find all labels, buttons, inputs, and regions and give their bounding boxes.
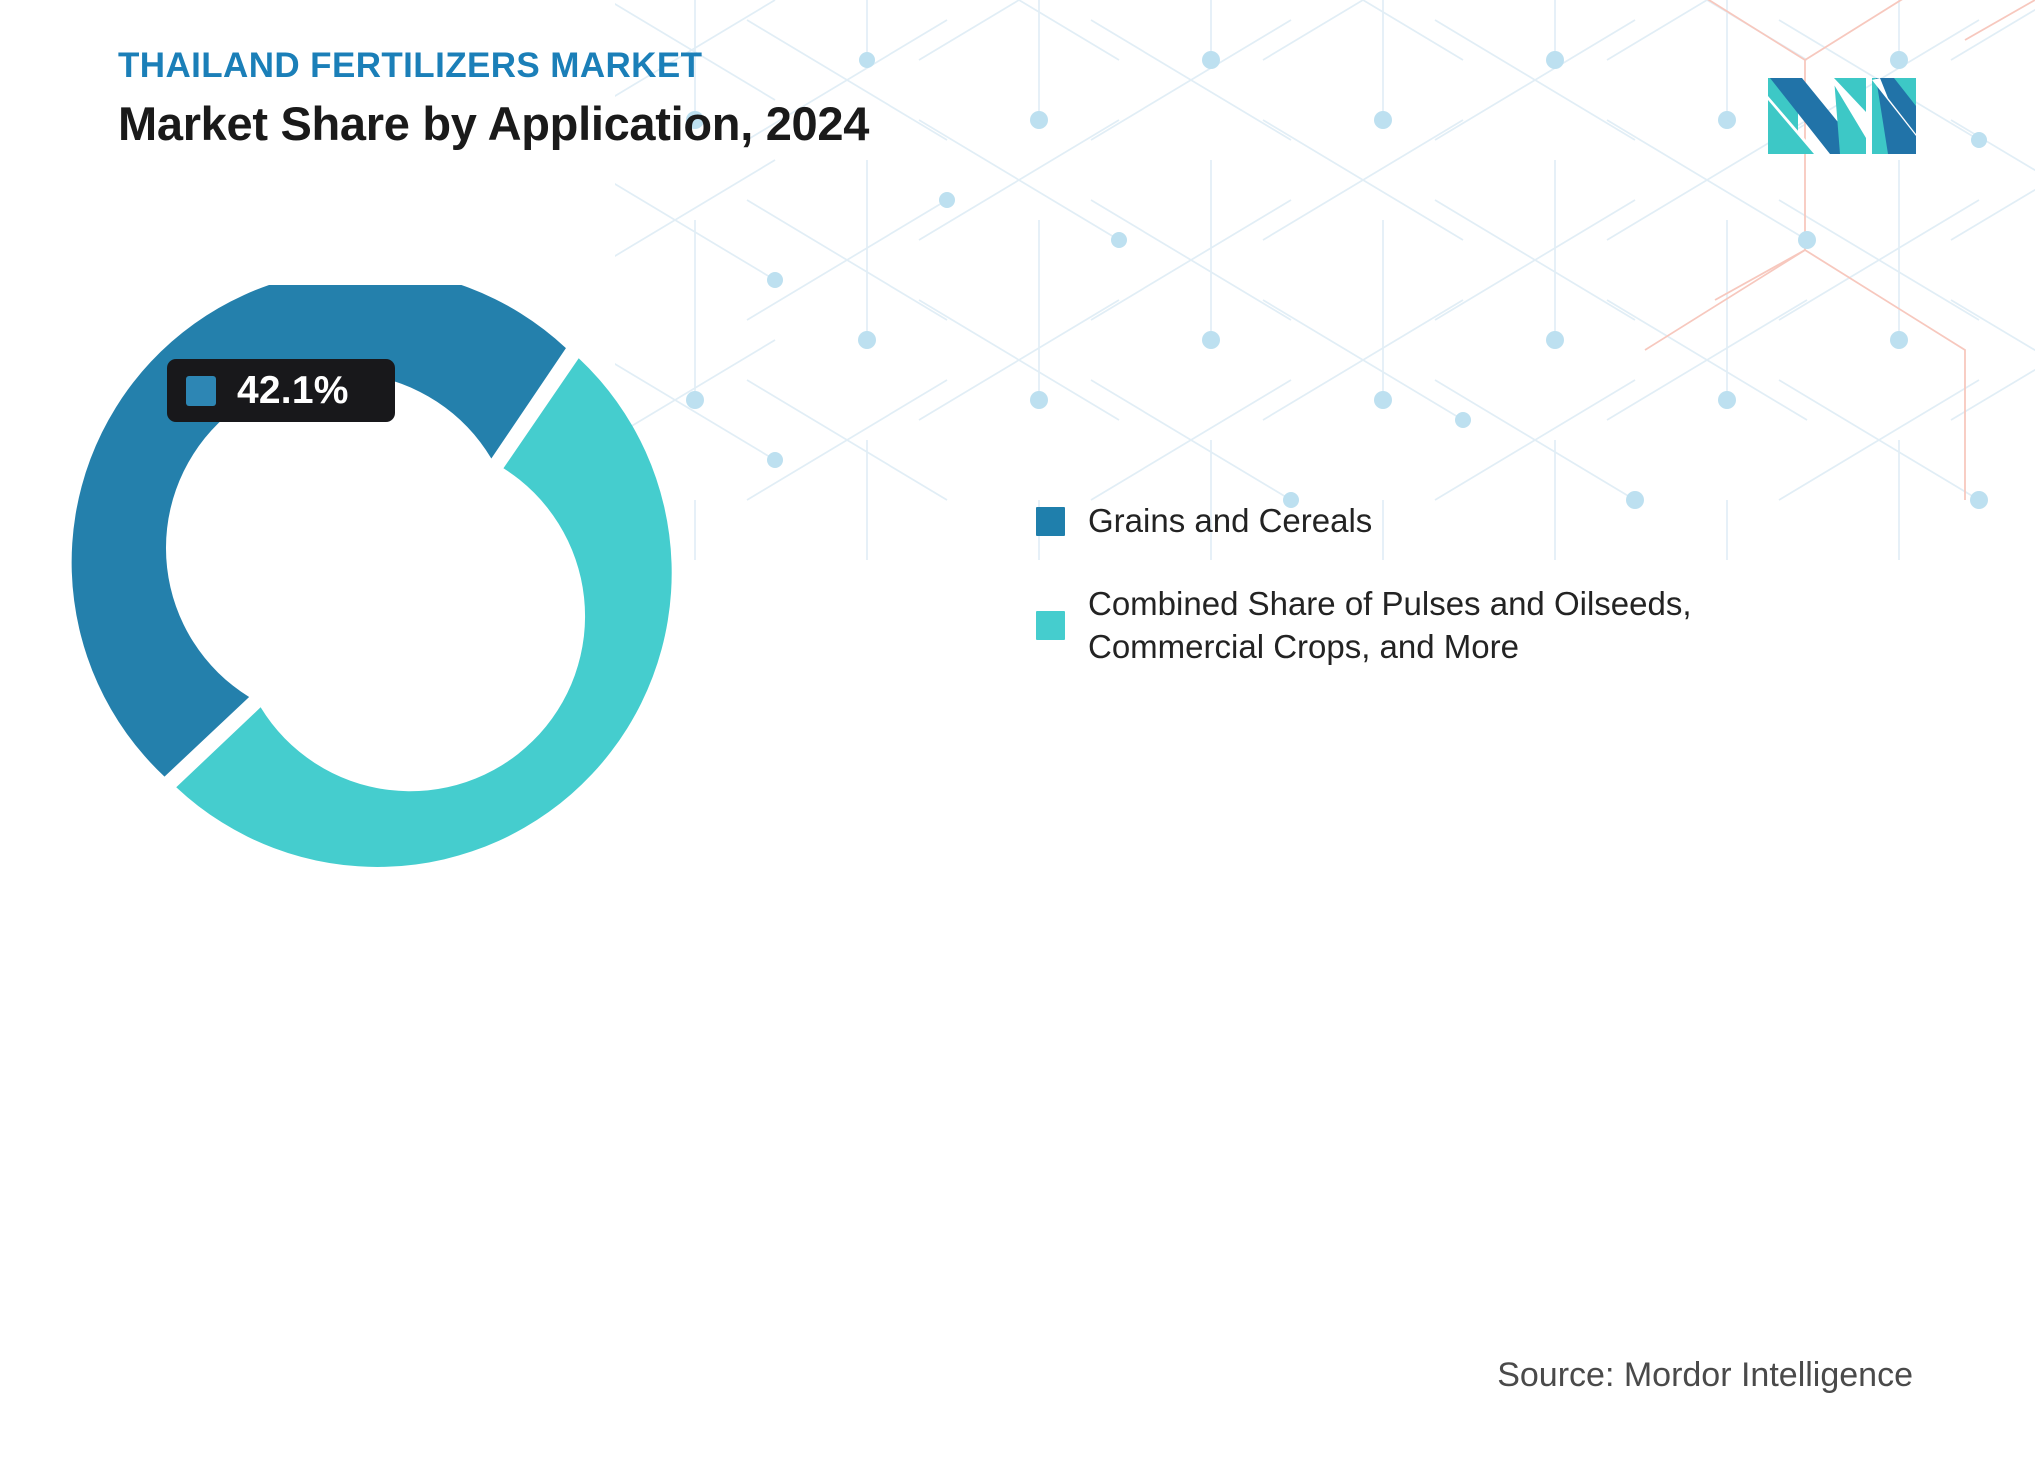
chart-legend: Grains and Cereals Combined Share of Pul… bbox=[1036, 500, 1736, 669]
legend-item-label: Combined Share of Pulses and Oilseeds, C… bbox=[1088, 583, 1708, 669]
source-note: Source: Mordor Intelligence bbox=[1497, 1358, 1913, 1392]
legend-item-label: Grains and Cereals bbox=[1088, 500, 1372, 543]
badge-color-swatch-icon bbox=[186, 376, 216, 406]
market-eyebrow: THAILAND FERTILIZERS MARKET bbox=[118, 48, 869, 83]
mordor-intelligence-logo-icon bbox=[1768, 78, 1916, 154]
accent-lines bbox=[1645, 0, 2035, 500]
chart-canvas: THAILAND FERTILIZERS MARKET Market Share… bbox=[0, 0, 2035, 1480]
page-title: Market Share by Application, 2024 bbox=[118, 100, 869, 147]
chart-header: THAILAND FERTILIZERS MARKET Market Share… bbox=[118, 48, 869, 147]
badge-value: 42.1% bbox=[237, 371, 349, 410]
legend-swatch-icon bbox=[1036, 507, 1065, 536]
data-label-badge[interactable]: 42.1% bbox=[167, 359, 395, 422]
donut-slice-combined-share[interactable] bbox=[176, 358, 671, 867]
legend-item-combined-share[interactable]: Combined Share of Pulses and Oilseeds, C… bbox=[1036, 583, 1736, 669]
legend-item-grains-and-cereals[interactable]: Grains and Cereals bbox=[1036, 500, 1736, 543]
legend-swatch-icon bbox=[1036, 611, 1065, 640]
